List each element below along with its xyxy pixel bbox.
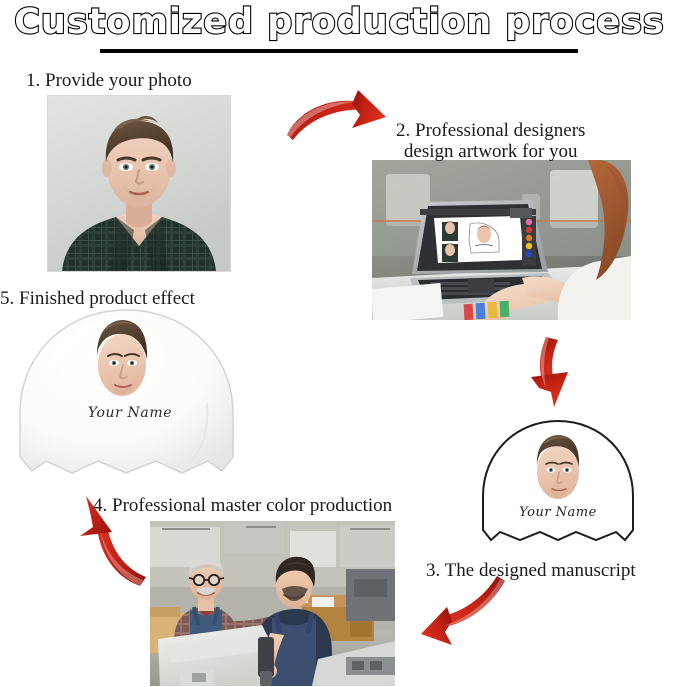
title-block: Customized production process xyxy=(0,0,679,58)
arrow-step2-to-step3 xyxy=(531,337,568,407)
factory-illustration xyxy=(150,521,395,686)
designer-at-laptop-photo xyxy=(372,160,631,320)
step-3-label: 3. The designed manuscript xyxy=(426,560,636,581)
step-2-label-line2: design artwork for you xyxy=(396,141,585,162)
face-cutout-illustration xyxy=(527,432,589,506)
factory-production-photo xyxy=(150,521,395,686)
page-title: Customized production process xyxy=(0,2,679,42)
step-5-label: 5. Finished product effect xyxy=(0,288,195,309)
arrow-step3-to-step4 xyxy=(421,576,505,645)
face-print-illustration xyxy=(86,316,158,406)
portrait-illustration xyxy=(48,96,230,271)
step-2-label: 2. Professional designers design artwork… xyxy=(396,120,585,163)
cap-5-artwork-name: Your Name xyxy=(40,405,220,421)
cap-3-artwork-name: Your Name xyxy=(478,505,638,520)
step-1-label: 1. Provide your photo xyxy=(26,70,192,91)
title-underline xyxy=(100,49,578,53)
portrait-photo xyxy=(47,95,231,272)
designer-illustration xyxy=(372,160,631,320)
step-2-label-line1: 2. Professional designers xyxy=(396,120,585,141)
step-4-label: 4. Professional master color production xyxy=(93,495,392,516)
cap-3-face-artwork xyxy=(527,432,589,506)
arrow-step1-to-step2 xyxy=(287,90,386,140)
cap-5-face-artwork xyxy=(86,316,158,406)
